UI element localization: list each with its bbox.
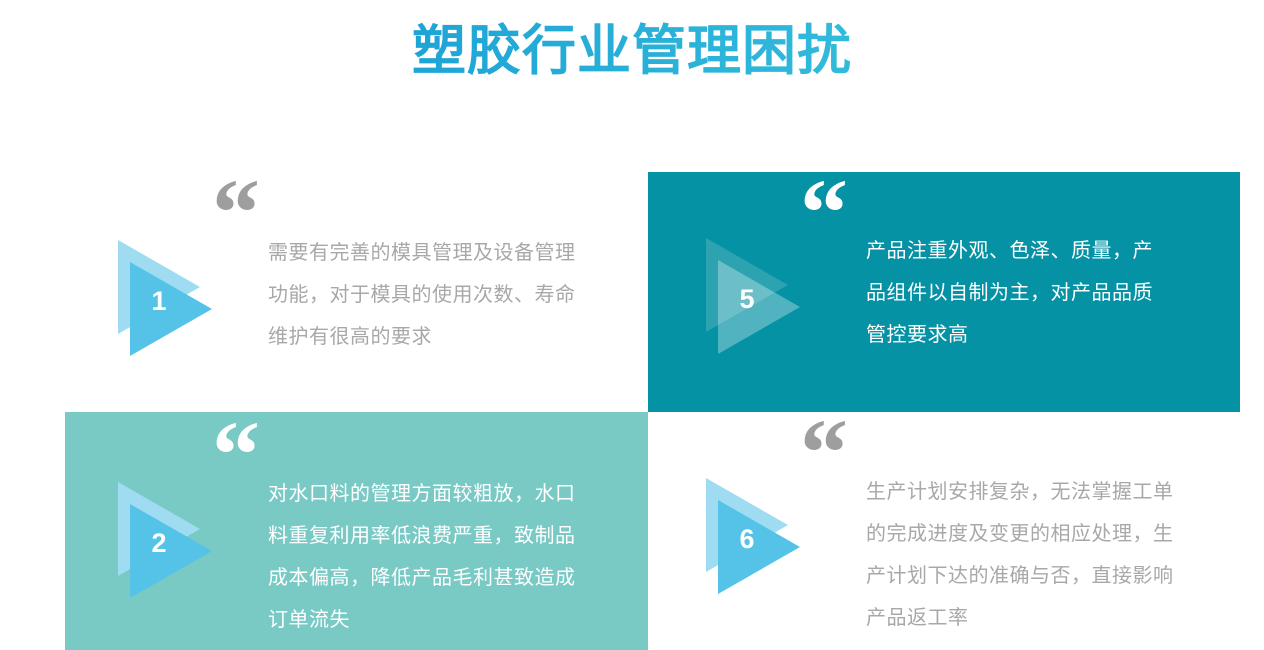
text-line: 产计划下达的准确与否，直接影响 (866, 555, 1226, 597)
quote-mark-icon: “ (800, 176, 846, 251)
text-line: 料重复利用率低浪费严重，致制品 (268, 515, 628, 557)
panel-5-text: 产品注重外观、色泽、质量，产 品组件以自制为主，对产品品质 管控要求高 (866, 230, 1218, 356)
panel-6-text: 生产计划安排复杂，无法掌握工单 的完成进度及变更的相应处理，生 产计划下达的准确… (866, 471, 1226, 639)
badge-number: 5 (730, 286, 764, 313)
page-title: 塑胶行业管理困扰 (0, 18, 1264, 86)
text-line: 的完成进度及变更的相应处理，生 (866, 513, 1226, 555)
text-line: 对水口料的管理方面较粗放，水口 (268, 473, 628, 515)
text-line: 产品注重外观、色泽、质量，产 (866, 230, 1218, 272)
quote-mark-icon: “ (212, 418, 258, 493)
text-line: 功能，对于模具的使用次数、寿命 (268, 274, 628, 316)
text-line: 需要有完善的模具管理及设备管理 (268, 232, 628, 274)
panel-1-text: 需要有完善的模具管理及设备管理 功能，对于模具的使用次数、寿命 维护有很高的要求 (268, 232, 628, 358)
quote-mark-icon: “ (800, 416, 846, 491)
text-line: 生产计划安排复杂，无法掌握工单 (866, 471, 1226, 513)
badge-number: 1 (142, 288, 176, 315)
text-line: 管控要求高 (866, 314, 1218, 356)
text-line: 产品返工率 (866, 597, 1226, 639)
panel-2-text: 对水口料的管理方面较粗放，水口 料重复利用率低浪费严重，致制品 成本偏高，降低产… (268, 473, 628, 641)
text-line: 成本偏高，降低产品毛利甚致造成 (268, 557, 628, 599)
badge-number: 6 (730, 526, 764, 553)
quote-mark-icon: “ (212, 176, 258, 251)
text-line: 订单流失 (268, 599, 628, 641)
text-line: 品组件以自制为主，对产品品质 (866, 272, 1218, 314)
text-line: 维护有很高的要求 (268, 316, 628, 358)
badge-number: 2 (142, 530, 176, 557)
